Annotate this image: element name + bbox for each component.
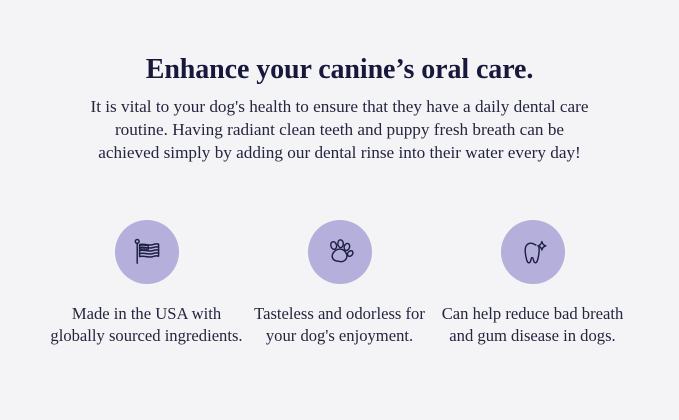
feature-caption: Can help reduce bad breath and gum disea…: [436, 303, 629, 346]
feature-caption: Made in the USA with globally sourced in…: [50, 303, 243, 346]
feature-item-made-in-usa: Made in the USA with globally sourced in…: [50, 220, 243, 346]
feature-item-tasteless: Tasteless and odorless for your dog's en…: [243, 220, 436, 346]
promo-panel: Enhance your canine’s oral care. It is v…: [0, 0, 679, 420]
page-title: Enhance your canine’s oral care.: [0, 54, 679, 86]
usa-flag-icon: [115, 220, 179, 284]
feature-item-bad-breath: Can help reduce bad breath and gum disea…: [436, 220, 629, 346]
intro-block: Enhance your canine’s oral care. It is v…: [0, 54, 679, 165]
sparkling-tooth-icon: [501, 220, 565, 284]
intro-paragraph: It is vital to your dog's health to ensu…: [90, 95, 590, 165]
paw-print-icon: [308, 220, 372, 284]
feature-list: Made in the USA with globally sourced in…: [50, 220, 629, 346]
feature-caption: Tasteless and odorless for your dog's en…: [243, 303, 436, 346]
